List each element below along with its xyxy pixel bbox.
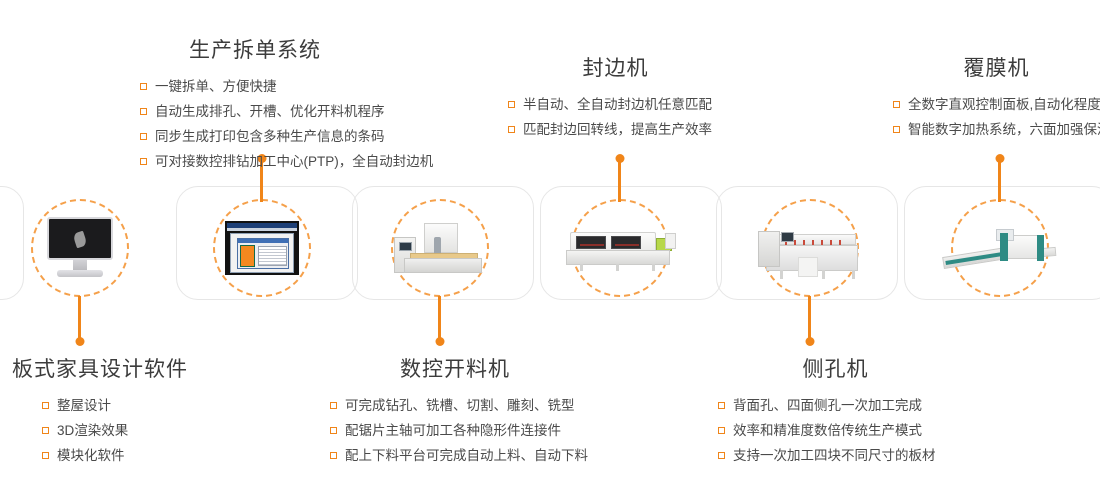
- bullet-text: 自动生成排孔、开槽、优化开料机程序: [155, 99, 385, 124]
- square-bullet-icon: [718, 427, 725, 434]
- node-production-split[interactable]: [213, 199, 311, 297]
- bullet-item: 智能数字加热系统，六面加强保温: [893, 117, 1100, 142]
- block-title-design-software: 板式家具设计软件: [12, 357, 188, 382]
- bullet-text: 支持一次加工四块不同尺寸的板材: [733, 443, 936, 468]
- square-bullet-icon: [718, 402, 725, 409]
- bullet-item: 一键拆单、方便快捷: [140, 74, 433, 99]
- imac-monitor-photo: [43, 217, 117, 279]
- bullet-item: 匹配封边回转线，提高生产效率: [508, 117, 723, 142]
- bullet-text: 同步生成打印包含多种生产信息的条码: [155, 124, 385, 149]
- bullet-list-cnc-router: 可完成钻孔、铣槽、切割、雕刻、铣型 配锯片主轴可加工各种隐形件连接件 配上下料平…: [330, 393, 588, 468]
- bullet-text: 匹配封边回转线，提高生产效率: [523, 117, 712, 142]
- square-bullet-icon: [718, 452, 725, 459]
- edge-banding-machine-photo: [564, 225, 676, 271]
- bullet-text: 全数字直观控制面板,自动化程度高: [908, 92, 1100, 117]
- square-bullet-icon: [140, 83, 147, 90]
- bullet-item: 可对接数控排钻加工中心(PTP)，全自动封边机: [140, 149, 433, 174]
- bullet-item: 可完成钻孔、铣槽、切割、雕刻、铣型: [330, 393, 588, 418]
- cad-software-screenshot-photo: [225, 221, 299, 275]
- bullet-item: 模块化软件: [42, 443, 188, 468]
- node-edge-bander[interactable]: [571, 199, 669, 297]
- square-bullet-icon: [508, 126, 515, 133]
- bullet-item: 自动生成排孔、开槽、优化开料机程序: [140, 99, 433, 124]
- shelf-segment-0: [0, 186, 24, 300]
- node-side-driller[interactable]: [761, 199, 859, 297]
- bullet-text: 配锯片主轴可加工各种隐形件连接件: [345, 418, 561, 443]
- block-laminating: 覆膜机 全数字直观控制面板,自动化程度高 智能数字加热系统，六面加强保温: [893, 56, 1100, 142]
- bullet-text: 效率和精准度数倍传统生产模式: [733, 418, 922, 443]
- bullet-text: 一键拆单、方便快捷: [155, 74, 277, 99]
- bullet-item: 效率和精准度数倍传统生产模式: [718, 418, 953, 443]
- bullet-item: 半自动、全自动封边机任意匹配: [508, 92, 723, 117]
- bullet-item: 背面孔、四面侧孔一次加工完成: [718, 393, 953, 418]
- bullet-item: 整屋设计: [42, 393, 188, 418]
- block-side-driller: 侧孔机 背面孔、四面侧孔一次加工完成 效率和精准度数倍传统生产模式 支持一次加工…: [718, 357, 953, 468]
- bullet-text: 半自动、全自动封边机任意匹配: [523, 92, 712, 117]
- bullet-text: 背面孔、四面侧孔一次加工完成: [733, 393, 922, 418]
- square-bullet-icon: [508, 101, 515, 108]
- block-edge-bander: 封边机 半自动、全自动封边机任意匹配 匹配封边回转线，提高生产效率: [508, 56, 723, 142]
- bullet-item: 支持一次加工四块不同尺寸的板材: [718, 443, 953, 468]
- bullet-list-laminating: 全数字直观控制面板,自动化程度高 智能数字加热系统，六面加强保温: [893, 92, 1100, 142]
- block-title-edge-bander: 封边机: [508, 56, 723, 81]
- bullet-text: 智能数字加热系统，六面加强保温: [908, 117, 1100, 142]
- connector-side-driller: [808, 296, 811, 342]
- bullet-list-design-software: 整屋设计 3D渲染效果 模块化软件: [42, 393, 188, 468]
- workflow-diagram: 生产拆单系统 一键拆单、方便快捷 自动生成排孔、开槽、优化开料机程序 同步生成打…: [0, 0, 1100, 495]
- connector-cnc-router: [438, 296, 441, 342]
- bullet-list-side-driller: 背面孔、四面侧孔一次加工完成 效率和精准度数倍传统生产模式 支持一次加工四块不同…: [718, 393, 953, 468]
- square-bullet-icon: [893, 101, 900, 108]
- square-bullet-icon: [42, 452, 49, 459]
- square-bullet-icon: [140, 133, 147, 140]
- node-cnc-router[interactable]: [391, 199, 489, 297]
- bullet-item: 配锯片主轴可加工各种隐形件连接件: [330, 418, 588, 443]
- bullet-item: 全数字直观控制面板,自动化程度高: [893, 92, 1100, 117]
- connector-design-software: [78, 296, 81, 342]
- node-laminating[interactable]: [951, 199, 1049, 297]
- connector-laminating: [998, 158, 1001, 202]
- bullet-text: 配上下料平台可完成自动上料、自动下料: [345, 443, 588, 468]
- block-title-production-split: 生产拆单系统: [140, 38, 370, 63]
- bullet-item: 3D渲染效果: [42, 418, 188, 443]
- block-cnc-router: 数控开料机 可完成钻孔、铣槽、切割、雕刻、铣型 配锯片主轴可加工各种隐形件连接件…: [330, 357, 588, 468]
- square-bullet-icon: [140, 108, 147, 115]
- square-bullet-icon: [42, 427, 49, 434]
- bullet-list-edge-bander: 半自动、全自动封边机任意匹配 匹配封边回转线，提高生产效率: [508, 92, 723, 142]
- bullet-text: 整屋设计: [57, 393, 111, 418]
- cnc-router-machine-photo: [394, 217, 486, 279]
- bullet-list-production-split: 一键拆单、方便快捷 自动生成排孔、开槽、优化开料机程序 同步生成打印包含多种生产…: [140, 74, 433, 174]
- bullet-item: 同步生成打印包含多种生产信息的条码: [140, 124, 433, 149]
- square-bullet-icon: [140, 158, 147, 165]
- laminating-machine-photo: [944, 221, 1056, 275]
- square-bullet-icon: [893, 126, 900, 133]
- bullet-text: 模块化软件: [57, 443, 125, 468]
- connector-edge-bander: [618, 158, 621, 202]
- bullet-text: 可对接数控排钻加工中心(PTP)，全自动封边机: [155, 149, 433, 174]
- square-bullet-icon: [42, 402, 49, 409]
- bullet-text: 3D渲染效果: [57, 418, 128, 443]
- block-title-cnc-router: 数控开料机: [330, 357, 580, 382]
- square-bullet-icon: [330, 452, 337, 459]
- block-title-laminating: 覆膜机: [893, 56, 1100, 81]
- block-design-software: 板式家具设计软件 整屋设计 3D渲染效果 模块化软件: [12, 357, 188, 468]
- square-bullet-icon: [330, 427, 337, 434]
- block-production-split: 生产拆单系统 一键拆单、方便快捷 自动生成排孔、开槽、优化开料机程序 同步生成打…: [140, 38, 433, 174]
- bullet-item: 配上下料平台可完成自动上料、自动下料: [330, 443, 588, 468]
- node-design-software[interactable]: [31, 199, 129, 297]
- block-title-side-driller: 侧孔机: [718, 357, 953, 382]
- square-bullet-icon: [330, 402, 337, 409]
- side-hole-drilling-machine-photo: [758, 217, 862, 279]
- bullet-text: 可完成钻孔、铣槽、切割、雕刻、铣型: [345, 393, 575, 418]
